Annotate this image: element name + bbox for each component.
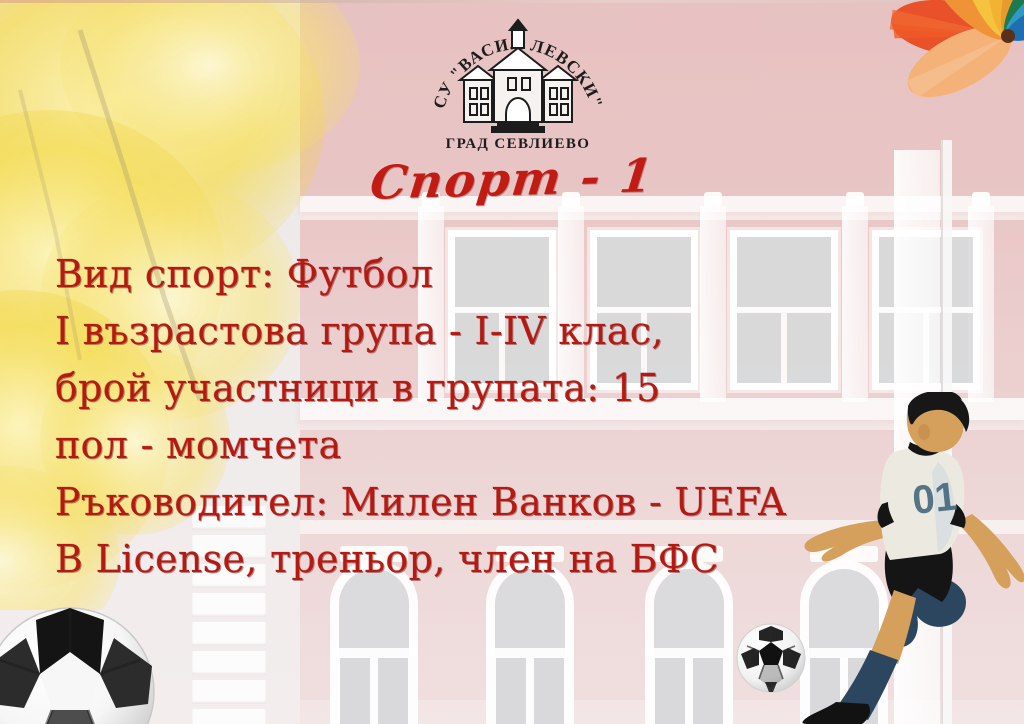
player-left-arm — [805, 520, 884, 562]
school-logo: СУ "ВАСИЛ ЛЕВСКИ" — [428, 8, 608, 154]
football-player-illustration: 01 — [790, 392, 1024, 724]
soccer-ball-large — [0, 604, 158, 724]
soccer-ball-small — [735, 622, 807, 694]
presentation-slide: СУ "ВАСИЛ ЛЕВСКИ" — [0, 0, 1024, 724]
school-building-icon — [460, 20, 576, 132]
player-jersey-number: 01 — [910, 475, 959, 523]
logo-bottom-text: ГРАД СЕВЛИЕВО — [446, 136, 591, 152]
page-title: Спорт - 1 — [0, 152, 1024, 206]
player-boot — [802, 702, 870, 724]
page-title-text: Спорт - 1 — [367, 148, 657, 209]
paper-fan-decoration — [840, 0, 1024, 152]
content-line: Вид спорт: Футбол — [55, 246, 935, 303]
content-line: I възрастова група - I-IV клас, — [55, 303, 935, 360]
player-right-arm — [956, 514, 1024, 588]
